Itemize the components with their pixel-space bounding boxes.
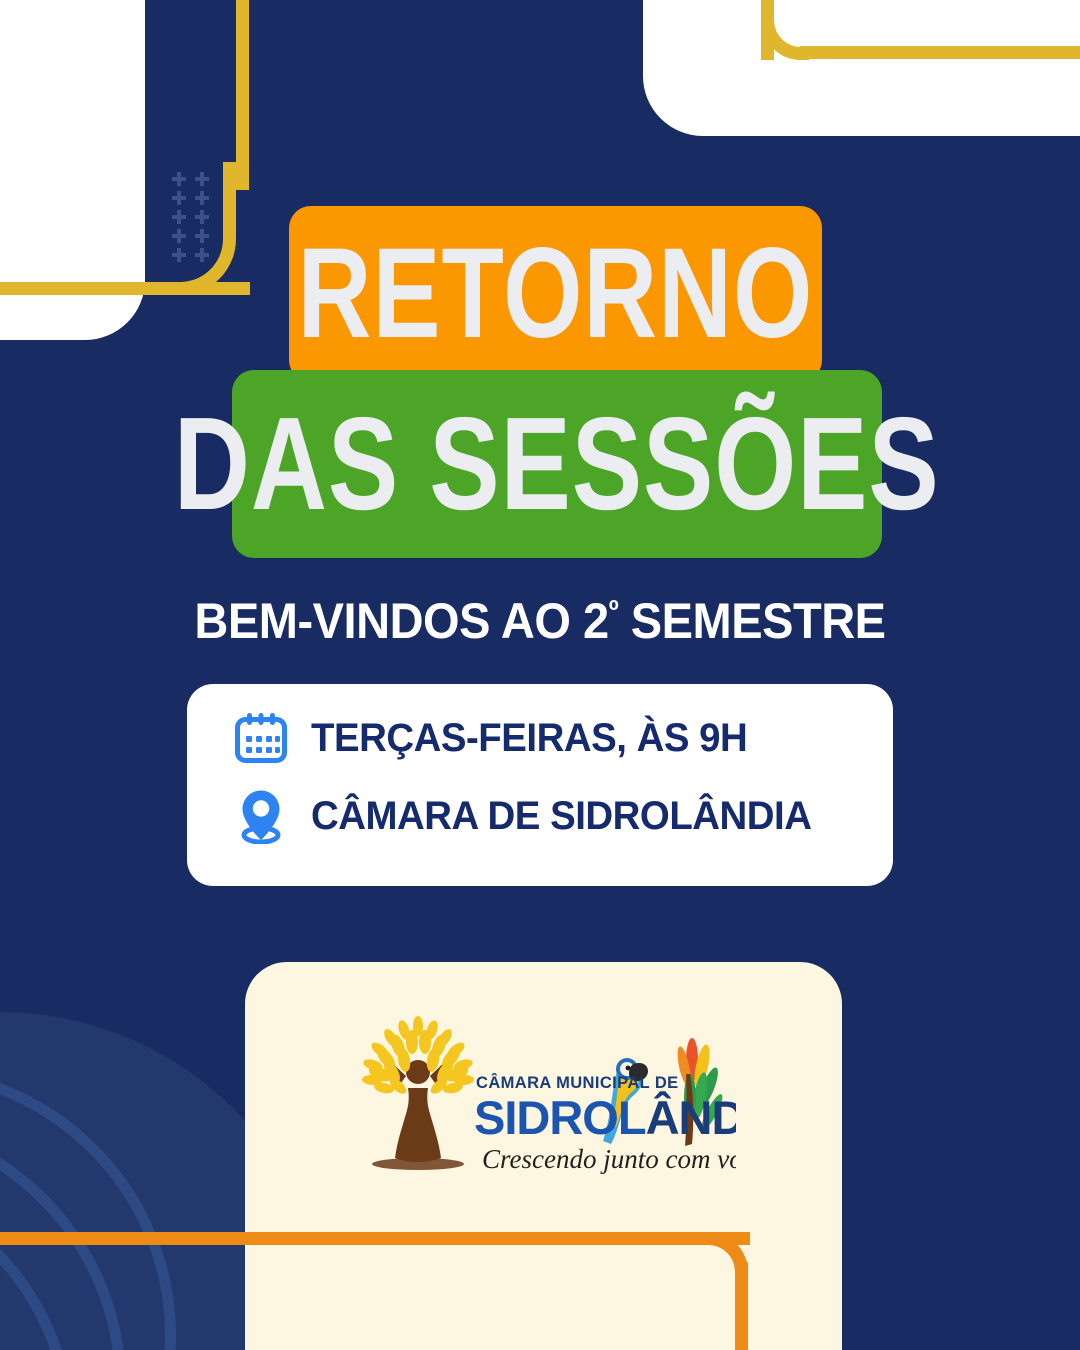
decor-cross-dot-grid bbox=[172, 172, 213, 265]
subtitle: BEM-VINDOS AO 2º SEMESTRE bbox=[32, 592, 1047, 650]
title-banner-orange: RETORNO bbox=[289, 206, 822, 382]
cross-icon bbox=[172, 229, 186, 243]
calendar-icon bbox=[233, 710, 289, 766]
cross-icon bbox=[172, 248, 186, 262]
cross-icon bbox=[172, 210, 186, 224]
cross-icon bbox=[195, 248, 209, 262]
title-line-1: RETORNO bbox=[298, 239, 814, 349]
decor-orange-line-vertical bbox=[735, 1262, 748, 1350]
info-row-schedule: TERÇAS-FEIRAS, ÀS 9H bbox=[233, 710, 766, 766]
institution-logo: CÂMARA MUNICIPAL DE SIDROLÂNDIA Crescend… bbox=[346, 1012, 736, 1192]
cross-icon bbox=[195, 191, 209, 205]
decor-orange-line-horizontal bbox=[0, 1232, 750, 1245]
title-banner-green: DAS SESSÕES bbox=[232, 370, 882, 558]
schedule-label: TERÇAS-FEIRAS, ÀS 9H bbox=[311, 716, 747, 761]
venue-label: CÂMARA DE SIDROLÂNDIA bbox=[311, 794, 811, 839]
decor-yellow-line-top-left-vertical bbox=[236, 0, 249, 190]
decor-white-card-right bbox=[643, 0, 1080, 136]
decor-yellow-line-top-left-horizontal bbox=[0, 282, 250, 295]
cross-icon bbox=[172, 172, 186, 186]
cross-icon bbox=[195, 210, 209, 224]
subtitle-ordinal: º bbox=[609, 595, 618, 627]
decor-yellow-line-top-right-horizontal bbox=[800, 46, 1080, 59]
logo-slogan: Crescendo junto com você bbox=[482, 1144, 736, 1174]
subtitle-main: BEM-VINDOS AO 2 bbox=[194, 593, 608, 649]
logo-line-top: CÂMARA MUNICIPAL DE bbox=[476, 1073, 679, 1092]
tree-foliage bbox=[362, 1016, 475, 1096]
cross-icon bbox=[195, 172, 209, 186]
title-line-2: DAS SESSÕES bbox=[174, 407, 940, 521]
info-row-venue: CÂMARA DE SIDROLÂNDIA bbox=[233, 788, 832, 844]
event-info-card: TERÇAS-FEIRAS, ÀS 9H CÂMARA DE SIDROLÂND… bbox=[187, 684, 893, 886]
cross-icon bbox=[172, 191, 186, 205]
subtitle-tail: SEMESTRE bbox=[618, 593, 885, 649]
logo-line-main: SIDROLÂNDIA bbox=[474, 1091, 736, 1144]
poster-canvas: RETORNO DAS SESSÕES BEM-VINDOS AO 2º SEM… bbox=[0, 0, 1080, 1350]
cross-icon bbox=[195, 229, 209, 243]
location-pin-icon bbox=[233, 788, 289, 844]
